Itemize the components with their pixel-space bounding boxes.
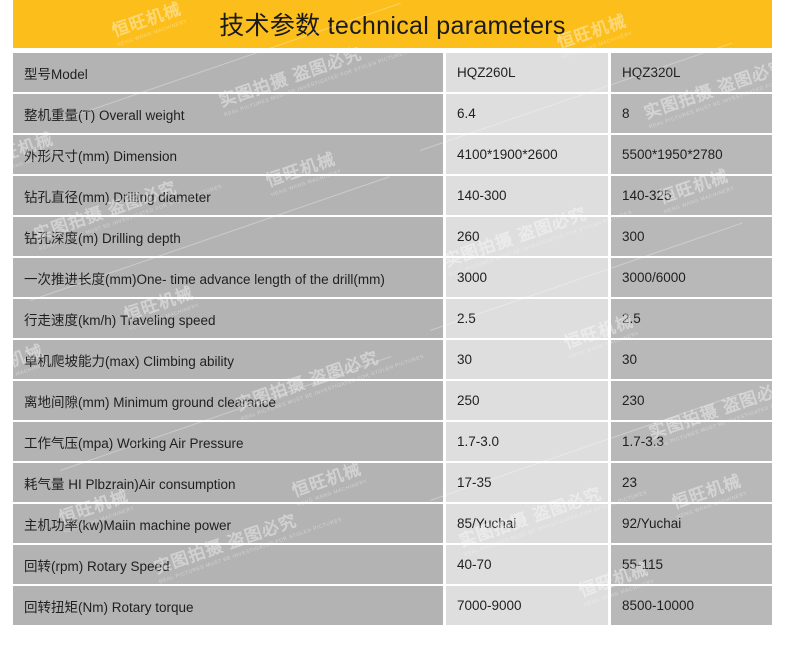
value-hqz320l: 230 xyxy=(611,381,772,420)
value-hqz260l: 17-35 xyxy=(446,463,608,502)
parameter-label: 工作气压(mpa) Working Air Pressure xyxy=(13,422,443,461)
parameter-label: 整机重量(T) Overall weight xyxy=(13,94,443,133)
table-row: 钻孔深度(m) Drilling depth 260 300 xyxy=(13,217,772,256)
table-row: 耗气量 HI Plbzrain)Air consumption 17-35 23 xyxy=(13,463,772,502)
parameter-label: 一次推进长度(mm)One- time advance length of th… xyxy=(13,258,443,297)
value-hqz320l: 92/Yuchai xyxy=(611,504,772,543)
value-hqz260l: 4100*1900*2600 xyxy=(446,135,608,174)
parameter-label: 耗气量 HI Plbzrain)Air consumption xyxy=(13,463,443,502)
parameter-label: 行走速度(km/h) Traveling speed xyxy=(13,299,443,338)
table-row: 外形尺寸(mm) Dimension 4100*1900*2600 5500*1… xyxy=(13,135,772,174)
value-hqz260l: 7000-9000 xyxy=(446,586,608,625)
table-row: 钻孔直径(mm) Drilling diameter 140-300 140-3… xyxy=(13,176,772,215)
value-hqz260l: 1.7-3.0 xyxy=(446,422,608,461)
value-hqz320l: 30 xyxy=(611,340,772,379)
value-hqz320l: 2.5 xyxy=(611,299,772,338)
value-hqz260l: 30 xyxy=(446,340,608,379)
value-hqz320l: 300 xyxy=(611,217,772,256)
table-row: 单机爬坡能力(max) Climbing ability 30 30 xyxy=(13,340,772,379)
value-hqz260l: 6.4 xyxy=(446,94,608,133)
value-hqz320l: HQZ320L xyxy=(611,53,772,92)
parameter-label: 单机爬坡能力(max) Climbing ability xyxy=(13,340,443,379)
parameter-label: 主机功率(kw)Maiin machine power xyxy=(13,504,443,543)
value-hqz260l: 140-300 xyxy=(446,176,608,215)
table-row: 回转扭矩(Nm) Rotary torque 7000-9000 8500-10… xyxy=(13,586,772,625)
parameter-label: 型号Model xyxy=(13,53,443,92)
table-row: 一次推进长度(mm)One- time advance length of th… xyxy=(13,258,772,297)
value-hqz320l: 140-325 xyxy=(611,176,772,215)
value-hqz320l: 23 xyxy=(611,463,772,502)
table-row: 型号Model HQZ260L HQZ320L xyxy=(13,53,772,92)
table-row: 工作气压(mpa) Working Air Pressure 1.7-3.0 1… xyxy=(13,422,772,461)
technical-parameters-table: 型号Model HQZ260L HQZ320L 整机重量(T) Overall … xyxy=(13,53,772,627)
value-hqz260l: 260 xyxy=(446,217,608,256)
table-row: 主机功率(kw)Maiin machine power 85/Yuchai 92… xyxy=(13,504,772,543)
parameter-label: 离地间隙(mm) Minimum ground clearance xyxy=(13,381,443,420)
table-row: 回转(rpm) Rotary Speed 40-70 55-115 xyxy=(13,545,772,584)
value-hqz260l: 40-70 xyxy=(446,545,608,584)
value-hqz260l: 85/Yuchai xyxy=(446,504,608,543)
parameter-label: 回转(rpm) Rotary Speed xyxy=(13,545,443,584)
technical-parameters-page: 技术参数 technical parameters 型号Model HQZ260… xyxy=(0,0,790,645)
parameter-label: 外形尺寸(mm) Dimension xyxy=(13,135,443,174)
table-row: 离地间隙(mm) Minimum ground clearance 250 23… xyxy=(13,381,772,420)
table-row: 行走速度(km/h) Traveling speed 2.5 2.5 xyxy=(13,299,772,338)
table-row: 整机重量(T) Overall weight 6.4 8 xyxy=(13,94,772,133)
value-hqz320l: 8 xyxy=(611,94,772,133)
value-hqz260l: 2.5 xyxy=(446,299,608,338)
value-hqz320l: 1.7-3.3 xyxy=(611,422,772,461)
page-title-banner: 技术参数 technical parameters xyxy=(13,0,772,48)
page-title: 技术参数 technical parameters xyxy=(219,6,566,42)
value-hqz320l: 3000/6000 xyxy=(611,258,772,297)
value-hqz260l: 250 xyxy=(446,381,608,420)
parameter-label: 回转扭矩(Nm) Rotary torque xyxy=(13,586,443,625)
value-hqz260l: HQZ260L xyxy=(446,53,608,92)
parameter-label: 钻孔深度(m) Drilling depth xyxy=(13,217,443,256)
parameter-label: 钻孔直径(mm) Drilling diameter xyxy=(13,176,443,215)
value-hqz260l: 3000 xyxy=(446,258,608,297)
value-hqz320l: 55-115 xyxy=(611,545,772,584)
value-hqz320l: 5500*1950*2780 xyxy=(611,135,772,174)
value-hqz320l: 8500-10000 xyxy=(611,586,772,625)
